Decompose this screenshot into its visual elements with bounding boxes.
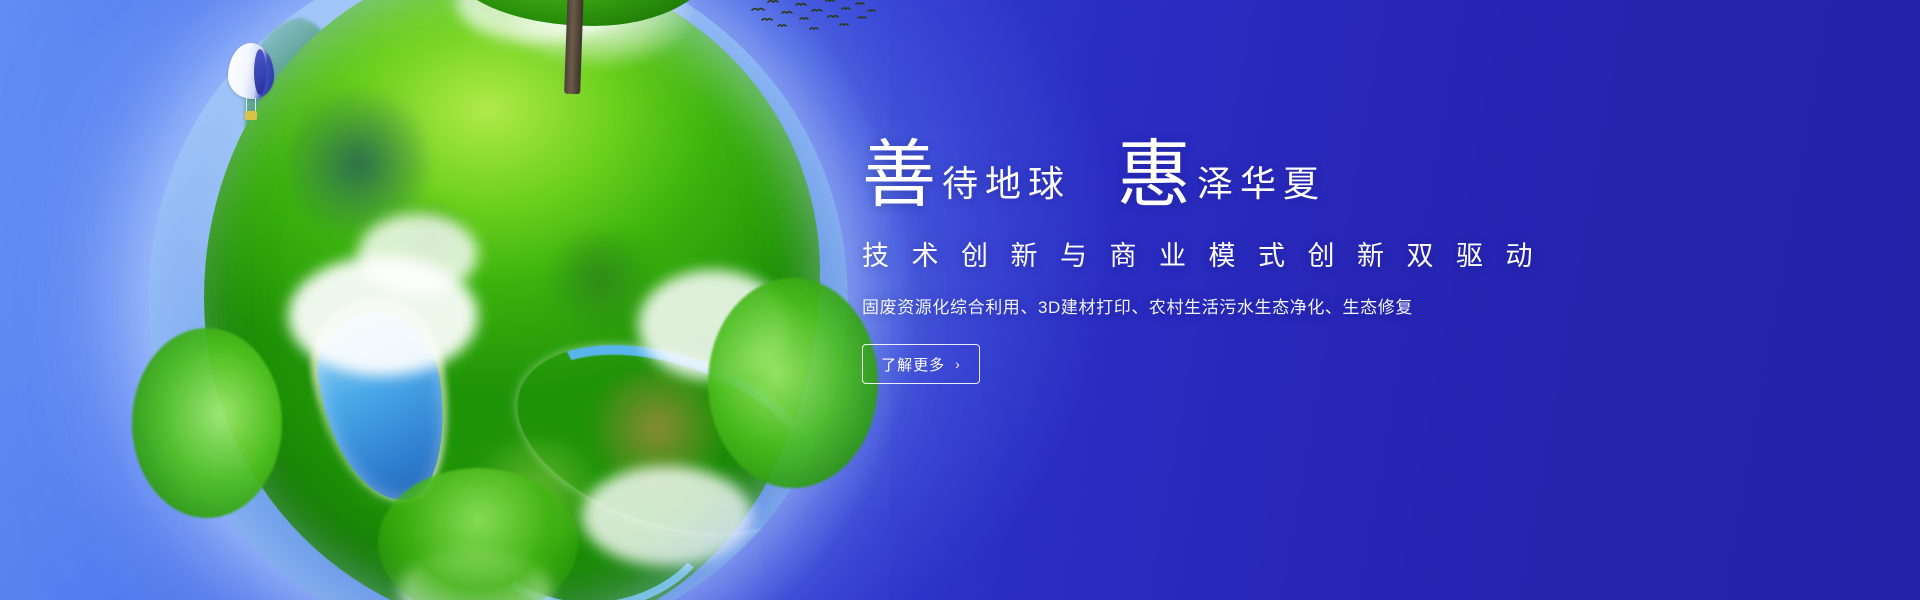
hot-air-balloon-icon xyxy=(228,43,274,125)
bird-flock-icon xyxy=(748,0,878,38)
chevron-right-icon: › xyxy=(955,356,961,372)
side-tree-icon xyxy=(132,328,282,518)
hero-copy: 善 待地球 惠 泽华夏 技 术 创 新 与 商 业 模 式 创 新 双 驱 动 … xyxy=(862,126,1562,384)
headline-char-2: 惠 xyxy=(1117,141,1197,212)
large-tree-icon xyxy=(448,0,718,86)
hero-subtitle: 技 术 创 新 与 商 业 模 式 创 新 双 驱 动 xyxy=(862,234,1562,273)
balloon-envelope xyxy=(228,43,274,99)
side-tree-icon xyxy=(708,278,878,488)
headline-char-1: 善 xyxy=(862,141,942,212)
tree-trunk xyxy=(564,0,584,94)
hero-banner: 善 待地球 惠 泽华夏 技 术 创 新 与 商 业 模 式 创 新 双 驱 动 … xyxy=(0,0,1920,600)
page-title: 善 待地球 惠 泽华夏 xyxy=(862,126,1562,210)
hero-description: 固废资源化综合利用、3D建材打印、农村生活污水生态净化、生态修复 xyxy=(862,293,1562,318)
learn-more-label: 了解更多 xyxy=(881,354,945,375)
balloon-basket xyxy=(245,111,257,120)
headline-rest-2: 泽华夏 xyxy=(1197,166,1326,210)
headline-rest-1: 待地球 xyxy=(942,166,1071,210)
balloon-stripe xyxy=(254,49,266,95)
green-earth-illustration xyxy=(148,0,848,600)
balloon-ropes xyxy=(246,98,256,112)
learn-more-button[interactable]: 了解更多 › xyxy=(862,344,980,384)
